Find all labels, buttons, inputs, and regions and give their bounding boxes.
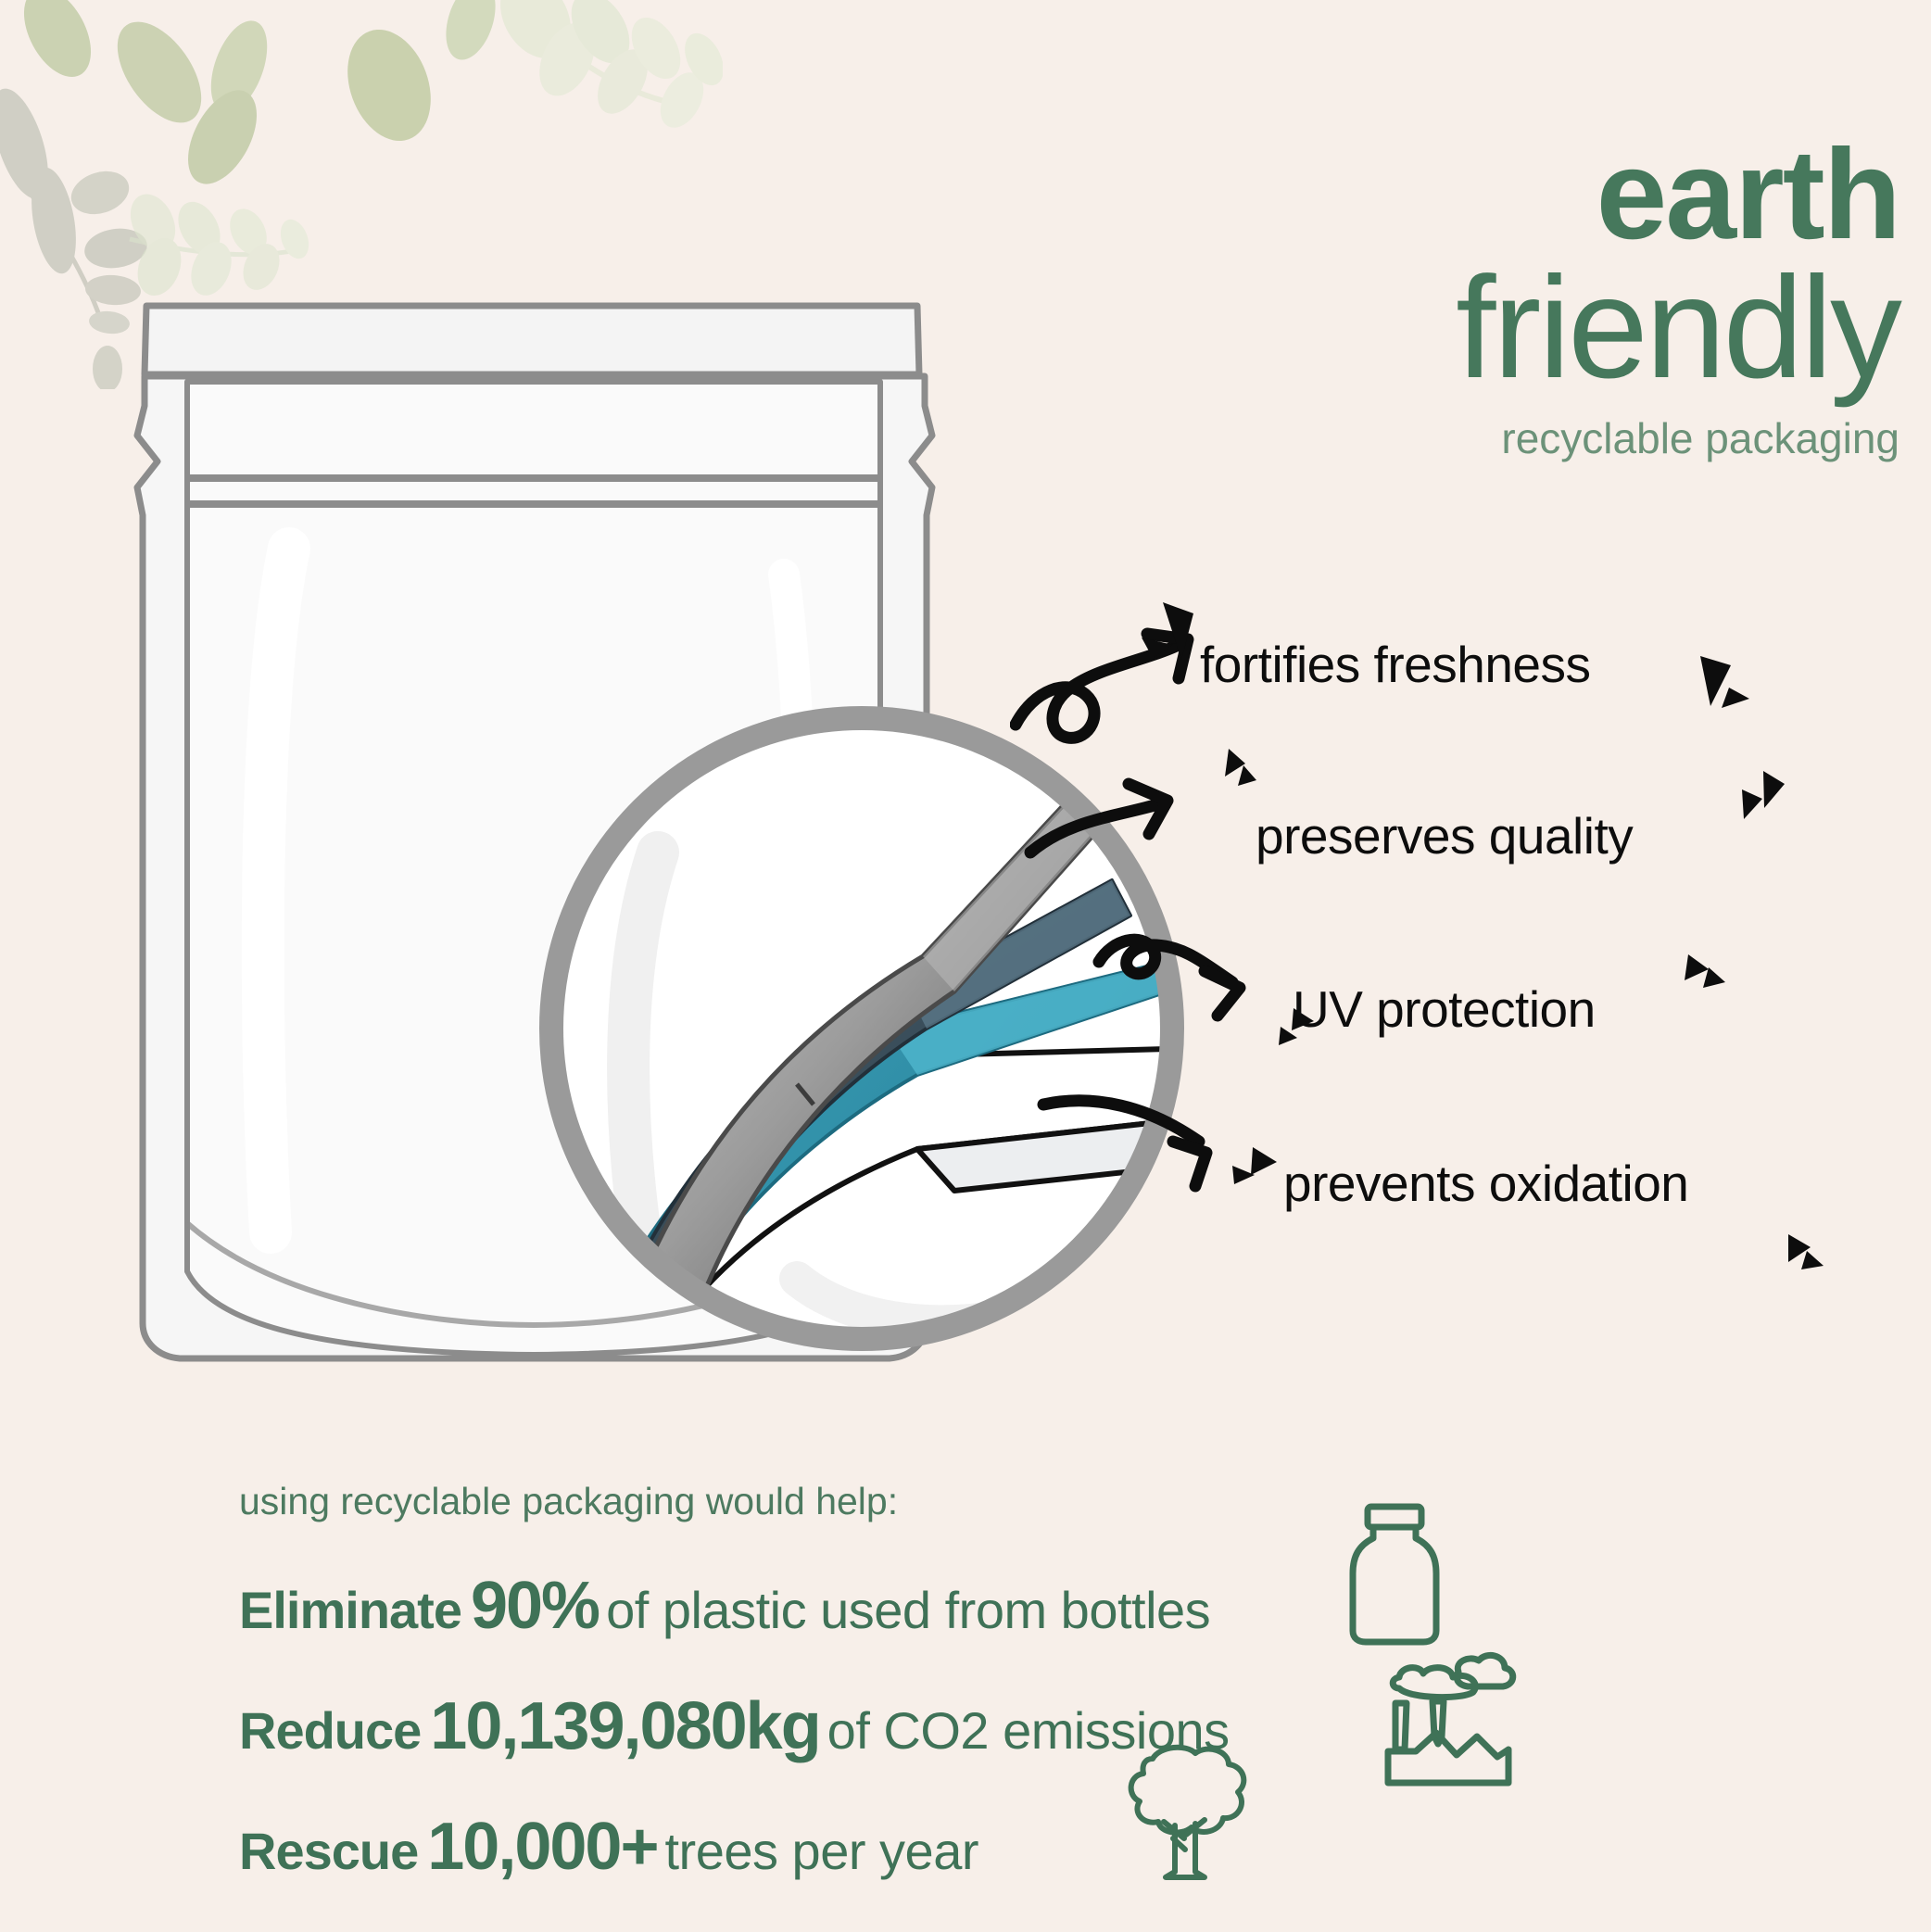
stat-row: Reduce10,139,080kgof CO2 emissions: [239, 1688, 1230, 1764]
arrow-head-1: [1147, 634, 1188, 678]
magnified-film-layers: [519, 686, 1205, 1371]
headline-line-1: earth: [1103, 130, 1899, 260]
bottle-icon: [1334, 1501, 1455, 1649]
headline-line-2: friendly: [1103, 255, 1899, 402]
feature-label-fortifies-freshness: fortifies freshness: [1200, 635, 1591, 694]
stat-row: Eliminate90%of plastic used from bottles: [239, 1568, 1210, 1644]
feature-label-preserves-quality: preserves quality: [1256, 806, 1633, 865]
stat-number: 10,139,080kg: [430, 1689, 819, 1763]
pouch-top-seal: [145, 306, 919, 374]
stat-verb: Reduce: [239, 1701, 421, 1760]
feature-label-uv-protection: UV protection: [1293, 979, 1596, 1039]
tree-icon: [1108, 1742, 1256, 1883]
stat-tail: trees per year: [665, 1822, 979, 1880]
stat-verb: Eliminate: [239, 1581, 461, 1639]
stats-intro-text: using recyclable packaging would help:: [239, 1480, 898, 1523]
stat-tail: of plastic used from bottles: [606, 1581, 1210, 1639]
factory-icon: [1379, 1648, 1518, 1788]
stat-number: 10,000+: [427, 1810, 657, 1884]
stat-verb: Rescue: [239, 1822, 418, 1880]
infographic-canvas: earth friendly recyclable packaging fort…: [0, 0, 1931, 1932]
headline-block: earth friendly recyclable packaging: [1103, 130, 1899, 463]
stat-row: Rescue10,000+trees per year: [239, 1809, 978, 1885]
stat-number: 90%: [471, 1569, 599, 1643]
feature-label-prevents-oxidation: prevents oxidation: [1283, 1154, 1688, 1213]
arrow-head-3: [1205, 971, 1240, 1016]
headline-subtitle: recyclable packaging: [1103, 413, 1899, 463]
